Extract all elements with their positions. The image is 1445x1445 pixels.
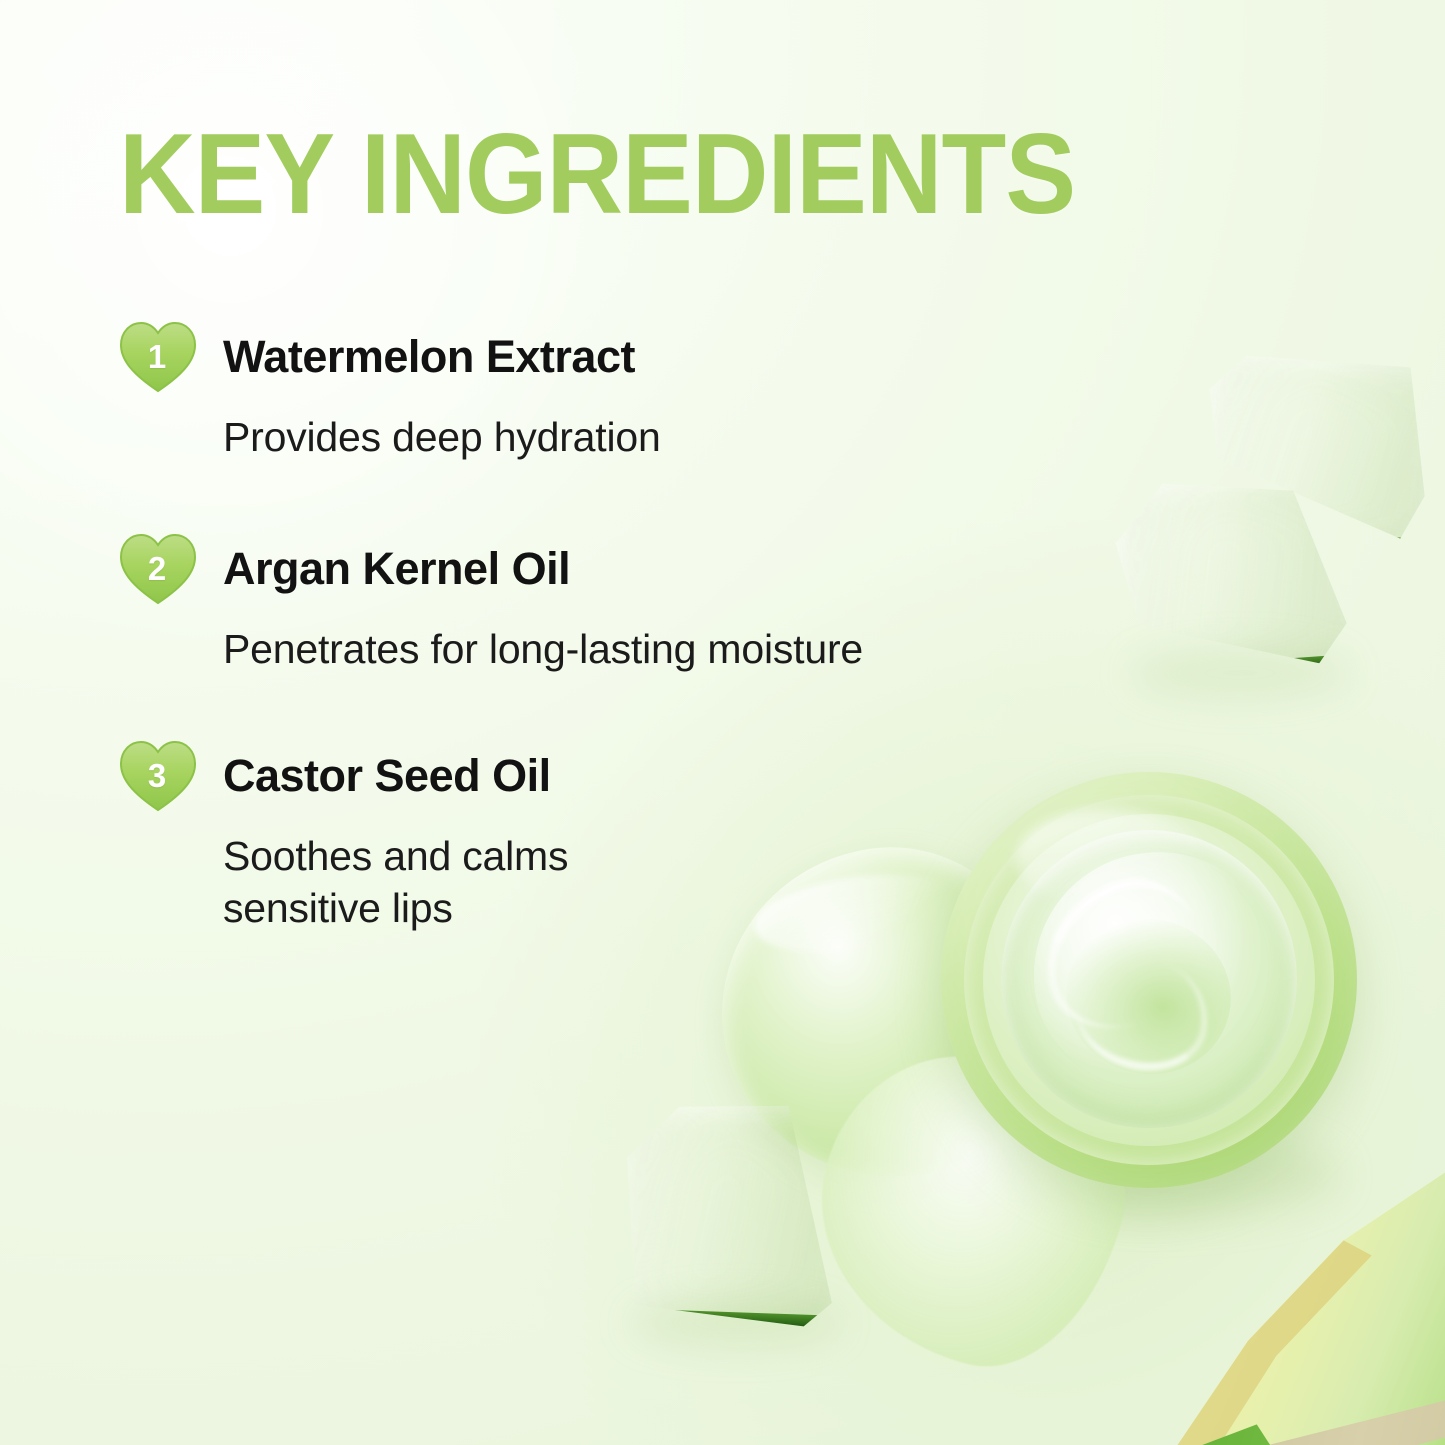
key-ingredients-graphic: KEY INGREDIENTS 1: [0, 0, 1445, 1445]
melon-rind: [1124, 654, 1356, 683]
jar-gloss: [1016, 809, 1207, 909]
heart-icon: 1: [119, 321, 197, 393]
list-item: 2 Argan Kernel Oil Penetrates for long-l…: [119, 537, 1019, 675]
ingredient-row: 1 Watermelon Extract: [119, 325, 1019, 393]
ingredient-row: 2 Argan Kernel Oil: [119, 537, 1019, 605]
ingredient-number: 1: [119, 340, 195, 373]
ingredient-row: 3 Castor Seed Oil: [119, 744, 1019, 812]
ingredient-number: 3: [119, 759, 195, 792]
page-title: KEY INGREDIENTS: [119, 118, 1075, 232]
ingredient-description: Penetrates for long-lasting moisture: [223, 623, 1019, 675]
list-spacer: [119, 463, 1019, 537]
heart-icon: 3: [119, 740, 197, 812]
ingredient-number: 2: [119, 552, 195, 585]
list-item: 1 Watermelon Extract Provides deep hydra…: [119, 325, 1019, 463]
ingredient-name: Castor Seed Oil: [223, 744, 551, 798]
list-spacer: [119, 676, 1019, 744]
ingredient-description: Provides deep hydration: [223, 411, 1019, 463]
open-lip-balm-jar: [941, 772, 1357, 1188]
ingredient-name: Watermelon Extract: [223, 325, 635, 379]
melon-slice: [1133, 1162, 1445, 1445]
heart-icon: 2: [119, 533, 197, 605]
ingredient-name: Argan Kernel Oil: [223, 537, 570, 591]
ingredient-list: 1 Watermelon Extract Provides deep hydra…: [119, 325, 1019, 935]
